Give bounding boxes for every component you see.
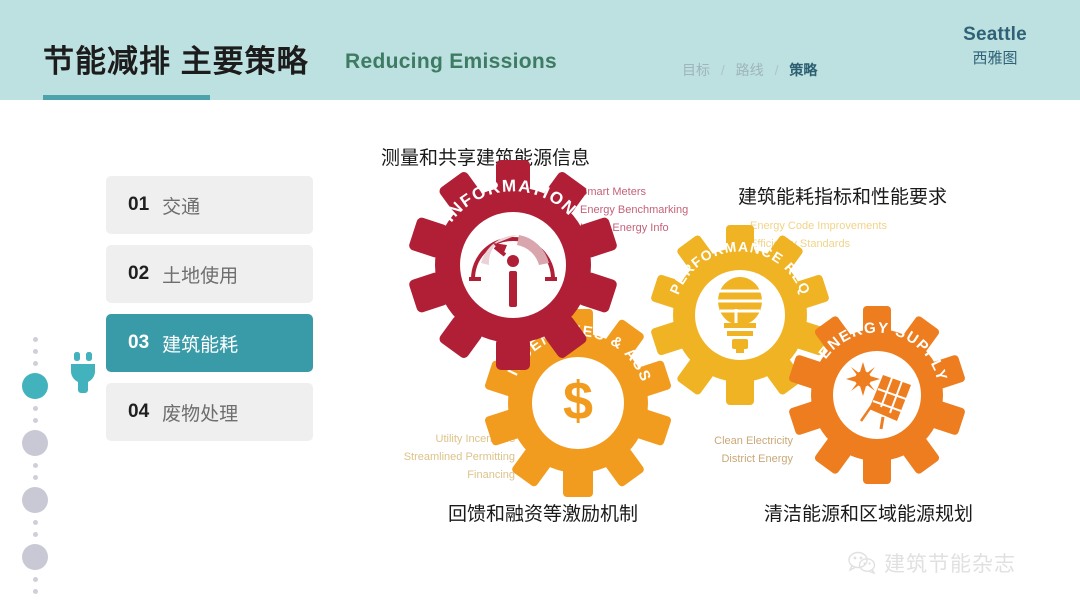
rail-dot-large[interactable] (22, 430, 48, 456)
breadcrumb-separator: / (721, 62, 725, 78)
rail-dot-small (33, 520, 38, 525)
rail-dot-small (33, 463, 38, 468)
sidebar-item-transport[interactable]: 01 交通 (106, 176, 313, 234)
rail-dot-small (33, 361, 38, 366)
rail-dot-small (33, 532, 38, 537)
brand-block: Seattle 西雅图 (940, 24, 1050, 72)
page-subtitle-en: Reducing Emissions (345, 50, 557, 74)
rail-dot-small (33, 475, 38, 480)
header-band: 节能减排 主要策略 Reducing Emissions 目标 / 路线 / 策… (0, 0, 1080, 100)
breadcrumb-separator: / (775, 62, 779, 78)
breadcrumb: 目标 / 路线 / 策略 (682, 60, 817, 80)
sidebar-item-waste[interactable]: 04 废物处理 (106, 383, 313, 441)
sidebar-item-number: 04 (128, 401, 149, 423)
breadcrumb-item-route[interactable]: 路线 (736, 62, 764, 78)
plug-icon (68, 352, 98, 394)
breadcrumb-item-strategy[interactable]: 策略 (789, 62, 817, 78)
sidebar-item-label: 土地使用 (162, 261, 238, 288)
title-accent-underline (43, 95, 210, 100)
rail-dot-small (33, 349, 38, 354)
progress-rail (22, 330, 48, 601)
sidebar-item-land-use[interactable]: 02 土地使用 (106, 245, 313, 303)
rail-dot-small (33, 337, 38, 342)
watermark-text: 建筑节能杂志 (884, 548, 1016, 578)
sidebar-item-number: 01 (128, 194, 149, 216)
rail-dot-large[interactable] (22, 487, 48, 513)
sidebar-item-number: 03 (128, 332, 149, 354)
dollar-sign-icon: $ (563, 371, 593, 431)
breadcrumb-item-goal[interactable]: 目标 (682, 62, 710, 78)
brand-name-cn: 西雅图 (940, 46, 1050, 72)
rail-dot-active[interactable] (22, 373, 48, 399)
watermark: 建筑节能杂志 (848, 546, 1068, 580)
rail-dot-small (33, 406, 38, 411)
rail-dot-small (33, 418, 38, 423)
sidebar-menu: 01 交通 02 土地使用 03 建筑能耗 04 废物处理 (106, 176, 313, 452)
sidebar-item-label: 交通 (162, 192, 200, 219)
sidebar-item-building-energy[interactable]: 03 建筑能耗 (106, 314, 313, 372)
rail-dot-small (33, 577, 38, 582)
sidebar-item-number: 02 (128, 263, 149, 285)
wechat-icon (848, 551, 876, 575)
rail-dot-small (33, 589, 38, 594)
page-title: 节能减排 主要策略 (43, 36, 309, 81)
gear-graphics: $ INCENTIVES & ASSISTANCE (340, 110, 1080, 540)
sidebar-item-label: 建筑能耗 (162, 330, 238, 357)
rail-dot-large[interactable] (22, 544, 48, 570)
sidebar-item-label: 废物处理 (162, 399, 238, 426)
brand-name-en: Seattle (940, 24, 1050, 46)
gear-diagram: 测量和共享建筑能源信息 建筑能耗指标和性能要求 回馈和融资等激励机制 清洁能源和… (340, 110, 1080, 540)
